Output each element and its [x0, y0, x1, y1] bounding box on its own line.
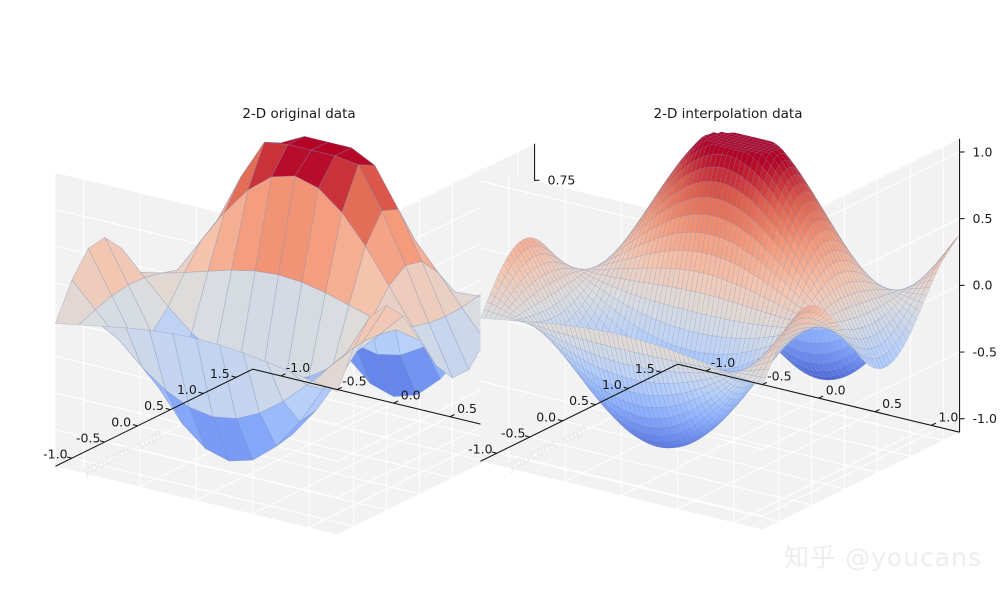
x-tick-label: 1.5 — [635, 361, 655, 376]
y-tick-label: 0.0 — [401, 387, 421, 402]
subplot-title: 2-D original data — [242, 106, 355, 122]
y-tick-label: 0.5 — [882, 396, 902, 411]
y-tick-label: -0.5 — [767, 369, 791, 384]
x-tick-label: 0.5 — [144, 398, 164, 413]
x-tick-label: -1.0 — [43, 447, 67, 462]
subplot-title: 2-D interpolation data — [653, 106, 802, 122]
x-tick-label: -1.0 — [468, 442, 492, 457]
y-tick-label: -1.0 — [711, 355, 735, 370]
x-tick-label: -0.5 — [501, 426, 525, 441]
matplotlib-figure: -1.0-0.50.00.51.01.5-1.0-0.50.00.51.0-0.… — [0, 0, 1000, 600]
x-tick-label: 0.0 — [111, 414, 131, 429]
corner-watermark: 知乎 @youcans — [784, 538, 982, 574]
x-tick-label: 1.5 — [210, 366, 230, 381]
x-tick-label: 1.0 — [177, 382, 197, 397]
y-tick-label: -1.0 — [286, 360, 310, 375]
y-tick-label: -0.5 — [342, 374, 366, 389]
z-tick-label: 0.0 — [973, 278, 993, 293]
x-tick-label: 0.0 — [536, 409, 556, 424]
y-tick-label: 0.5 — [457, 401, 477, 416]
x-tick-label: 0.5 — [569, 393, 589, 408]
x-tick-label: -0.5 — [76, 431, 100, 446]
z-tick-label: 0.5 — [973, 211, 993, 226]
z-tick-label: -1.0 — [973, 411, 997, 426]
y-tick-label: 1.0 — [938, 409, 958, 424]
x-tick-label: 1.0 — [602, 377, 622, 392]
z-tick-label: -0.5 — [973, 344, 997, 359]
y-tick-label: 0.0 — [826, 382, 846, 397]
z-tick-label: 1.0 — [973, 144, 993, 159]
